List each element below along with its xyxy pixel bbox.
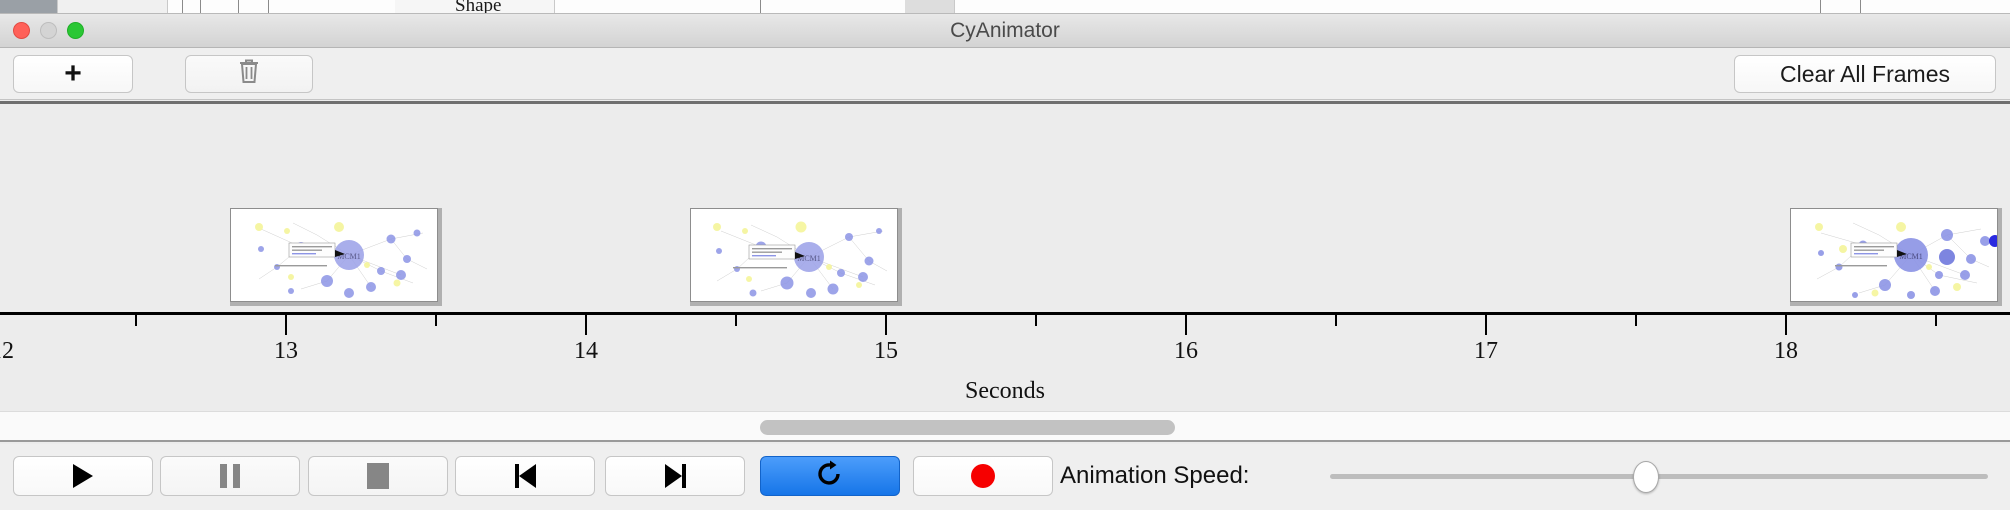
axis-tick-major [1485,315,1487,335]
hscrollbar-thumb[interactable] [760,420,1175,435]
pause-icon [220,464,240,488]
record-button[interactable] [913,456,1053,496]
skip-forward-icon [665,464,686,488]
axis-tick-major [1785,315,1787,335]
play-button[interactable] [13,456,153,496]
axis-tick-minor [1935,315,1937,326]
axis-label: 18 [1774,338,1798,365]
bg-tab-selected [0,0,58,14]
delete-frame-button[interactable] [185,55,313,93]
axis-label: 14 [574,338,598,365]
frame-thumbnail[interactable]: MCM1 [690,208,902,306]
bg-tab [58,0,168,14]
cyanimator-window: Shape CyAnimator + [0,0,2010,510]
axis-tick-major [1185,315,1187,335]
bg-tab [905,0,955,14]
background-window-strip: Shape [0,0,2010,14]
frames-area[interactable]: MCM1 [0,104,2010,312]
frame-thumbnail-image: MCM1 [1790,208,1998,302]
timeline-axis[interactable]: 12 13 14 15 16 17 18 Seconds [0,312,2010,414]
axis-label: 12 [0,338,14,365]
axis-label: 13 [274,338,298,365]
slider-track[interactable] [1330,474,1988,479]
slider-thumb[interactable] [1633,461,1659,493]
frame-thumbnail[interactable]: MCM1 [230,208,442,306]
axis-tick-minor [1035,315,1037,326]
animation-speed-slider[interactable] [1330,456,1988,496]
trash-icon [237,57,261,91]
stop-icon [367,463,389,489]
transport-bar: Animation Speed: [0,444,2010,510]
pause-button[interactable] [160,456,300,496]
axis-tick-major [285,315,287,335]
skip-start-button[interactable] [455,456,595,496]
bg-tick [268,0,269,14]
bg-tick [760,0,761,14]
loop-icon [817,460,843,493]
axis-tick-minor [1335,315,1337,326]
add-frame-button[interactable]: + [13,55,133,93]
skip-end-button[interactable] [605,456,745,496]
plus-icon: + [64,59,82,89]
animation-speed-label: Animation Speed: [1060,456,1249,496]
bg-tick [182,0,183,14]
bg-tick [1820,0,1821,14]
loop-button[interactable] [760,456,900,496]
axis-label: 15 [874,338,898,365]
axis-tick-minor [435,315,437,326]
axis-title: Seconds [965,378,1045,405]
axis-tick-minor [735,315,737,326]
record-icon [971,464,995,488]
timeline-panel[interactable]: MCM1 [0,101,2010,411]
window-title: CyAnimator [0,14,2010,48]
bg-tick [1860,0,1861,14]
axis-label: 17 [1474,338,1498,365]
title-bar[interactable]: CyAnimator [0,14,2010,48]
axis-tick-major [885,315,887,335]
bg-window-label: Shape [455,0,501,14]
skip-back-icon [515,464,536,488]
toolbar: + Clear All Frames [0,48,2010,100]
bg-tick [238,0,239,14]
frame-thumbnail[interactable]: MCM1 [1790,208,2002,306]
axis-line [0,312,2010,315]
axis-tick-major [585,315,587,335]
play-icon [73,464,93,488]
axis-tick-minor [135,315,137,326]
axis-tick-minor [1635,315,1637,326]
axis-label: 16 [1174,338,1198,365]
frame-thumbnail-image: MCM1 [230,208,438,302]
bg-tick [200,0,201,14]
timeline-hscrollbar[interactable] [0,411,2010,442]
clear-all-frames-label: Clear All Frames [1780,61,1950,88]
stop-button[interactable] [308,456,448,496]
frame-thumbnail-image: MCM1 [690,208,898,302]
clear-all-frames-button[interactable]: Clear All Frames [1734,55,1996,93]
